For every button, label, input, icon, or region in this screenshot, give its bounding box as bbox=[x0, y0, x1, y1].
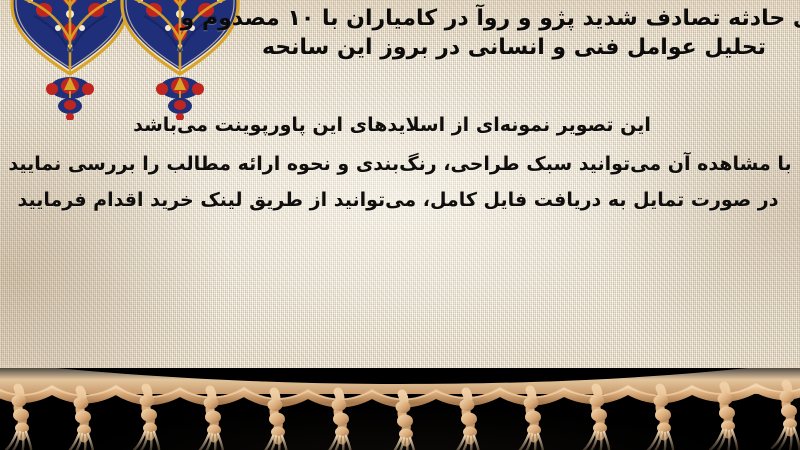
title-line-1: بررسی حادثه تصادف شدید پژو و روآ در کامی… bbox=[180, 5, 800, 34]
fringe-tassels-svg bbox=[0, 354, 800, 450]
carpet-fringe-tassels bbox=[0, 354, 800, 450]
slide-title: بررسی حادثه تصادف شدید پژو و روآ در کامی… bbox=[180, 5, 800, 62]
body-line-1: این تصویر نمونه‌ای از اسلایدهای این پاور… bbox=[2, 112, 782, 140]
body-line-3: در صورت تمایل به دریافت فایل کامل، می‌تو… bbox=[2, 187, 794, 215]
body-line-2: با مشاهده آن می‌توانید سبک طراحی، رنگ‌بن… bbox=[2, 151, 798, 179]
presentation-slide: بررسی حادثه تصادف شدید پژو و روآ در کامی… bbox=[0, 0, 800, 450]
title-line-2: تحلیل عوامل فنی و انسانی در بروز این سان… bbox=[180, 34, 800, 63]
slide-body: این تصویر نمونه‌ای از اسلایدهای این پاور… bbox=[2, 112, 798, 215]
